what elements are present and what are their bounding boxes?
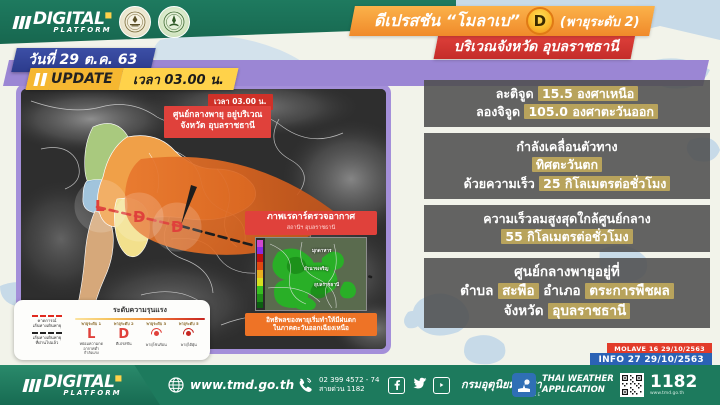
facebook-icon[interactable] [388, 377, 405, 394]
center-district-value: ตระการพืชผล [585, 283, 674, 299]
brand-group: DIGITAL■ PLATFORM [14, 6, 190, 38]
longitude-line: ลองจิจูด 105.0 องศาตะวันออก [432, 103, 702, 121]
coordinates-box: ละติจูด 15.5 องศาเหนือ ลองจิจูด 105.0 อง… [424, 80, 710, 127]
black-dash-icon [19, 332, 75, 334]
legend-level-2: พายุระดับ 2 D ดีเปรสชัน [108, 321, 141, 356]
radar-title-bar: ภาพเรดาร์ตรวจอากาศ สถานีฯ อุบลราชธานี [245, 211, 377, 235]
radar-subtitle: สถานีฯ อุบลราชธานี [249, 224, 373, 232]
update-banner: UPDATE เวลา 03.00 น. [25, 68, 238, 90]
callout-line-2: จังหวัด อุบลราชธานี [173, 121, 262, 132]
legend-level-5: พายุระดับ 5 พายุไต้ฝุ่น [173, 321, 206, 356]
update-time-label: เวลา 03.00 น. [133, 69, 224, 90]
movement-box: กำลังเคลื่อนตัวทาง ทิศตะวันตก ด้วยความเร… [424, 133, 710, 198]
typhoon-spiral-icon [183, 328, 194, 339]
center-province-line: จังหวัด อุบลราชธานี [432, 302, 702, 322]
footer-phone-line-2: สายด่วน 1182 [319, 385, 379, 394]
footer-website-label: www.tmd.go.th [190, 378, 294, 392]
storm-area-text: บริเวณจังหวัด อุบลราชธานี [454, 36, 619, 58]
latitude-value: 15.5 องศาเหนือ [538, 86, 638, 101]
legend-past-track: เส้นทางเดินพายุที่ผ่านไปแล้ว [19, 332, 75, 346]
legend-level-3-symbol [140, 328, 173, 342]
movement-direction-value: ทิศตะวันตก [532, 157, 602, 172]
legend-forecast-caption: คาดการณ์เส้นทางเดินพายุ [19, 318, 75, 329]
legend-level-3-label: พายุระดับ 3 [140, 321, 173, 327]
digital-platform-logo: DIGITAL■ PLATFORM [14, 11, 112, 34]
legend-level-3: พายุระดับ 3 พายุโซนร้อน [140, 321, 173, 356]
movement-direction-line: ทิศตะวันตก [432, 156, 702, 174]
windspeed-box: ความเร็วลมสูงสุดใกล้ศูนย์กลาง 55 กิโลเมต… [424, 205, 710, 252]
legend-past-caption: เส้นทางเดินพายุที่ผ่านไปแล้ว [19, 335, 75, 346]
center-location-label: ศูนย์กลางพายุอยู่ที่ [432, 263, 702, 283]
footer-hotline[interactable]: 1182 www.tmd.go.th [620, 373, 697, 397]
legend-level-1-symbol: L [75, 328, 108, 341]
red-dash-icon [19, 315, 75, 317]
center-location-box: ศูนย์กลางพายุอยู่ที่ ตำบล สะพือ อำเภอ ตร… [424, 258, 710, 328]
windspeed-label: ความเร็วลมสูงสุดใกล้ศูนย์กลาง [432, 210, 702, 228]
thai-weather-app-icon [512, 373, 536, 397]
map-marker-d2: D [171, 218, 183, 236]
storm-area-banner: บริเวณจังหวัด อุบลราชธานี [434, 34, 636, 59]
footer-website[interactable]: www.tmd.go.th [168, 377, 294, 393]
footer-logo: DIGITAL■ PLATFORM [0, 365, 160, 405]
radar-caption-line-2: ในภาคตะวันออกเฉียงเหนือ [249, 324, 373, 332]
footer-app[interactable]: THAI WEATHER APPLICATION [512, 373, 614, 397]
map-marker-d1: D [133, 208, 145, 226]
legend-forecast-track: คาดการณ์เส้นทางเดินพายุ [19, 315, 75, 329]
legend-level-3-name: พายุโซนร้อน [140, 343, 173, 348]
storm-title-main: ดีเปรสชัน “โมลาเบ” [374, 9, 520, 34]
movement-speed-line: ด้วยความเร็ว 25 กิโลเมตรต่อชั่วโมง [432, 175, 702, 193]
radar-caption: อิทธิพลของพายุเริ่มทำให้มีฝนตก ในภาคตะวั… [245, 313, 377, 336]
legend-level-2-symbol: D [108, 328, 141, 341]
windspeed-value-line: 55 กิโลเมตรต่อชั่วโมง [432, 228, 702, 246]
legend-title: ระดับความรุนแรง [113, 305, 167, 316]
update-label: UPDATE [51, 71, 113, 87]
center-subdistrict-value: สะพือ [498, 283, 539, 299]
radar-label-mukdahan: มุกดาหาร [312, 248, 331, 255]
radar-label-ubonratchathani: อุบลราชธานี [314, 282, 339, 289]
legend-level-5-label: พายุระดับ 5 [173, 321, 206, 327]
footer-phone-line-1: 02 399 4572 - 74 [319, 376, 379, 385]
storm-center-callout: ศูนย์กลางพายุ อยู่บริเวณ จังหวัด อุบลราช… [164, 106, 271, 138]
globe-icon [168, 377, 184, 393]
royal-thai-government-seal-icon [119, 6, 151, 38]
radar-image[interactable]: มุกดาหาร อำนาจเจริญ อุบลราชธานี [255, 237, 367, 311]
severity-scale-bar [75, 318, 205, 320]
youtube-icon[interactable] [433, 377, 450, 394]
center-subdistrict-line: ตำบล สะพือ อำเภอ ตระการพืชผล [432, 282, 702, 302]
phone-icon [296, 377, 313, 394]
radar-inset[interactable]: ภาพเรดาร์ตรวจอากาศ สถานีฯ อุบลราชธานี [245, 211, 377, 339]
callout-line-1: ศูนย์กลางพายุ อยู่บริเวณ [173, 110, 262, 121]
longitude-value: 105.0 องศาตะวันออก [524, 104, 657, 119]
legend-level-5-name: พายุไต้ฝุ่น [173, 343, 206, 348]
storm-info-panel: ละติจูด 15.5 องศาเหนือ ลองจิจูด 105.0 อง… [424, 80, 710, 334]
storm-level-badge: D [526, 7, 554, 35]
legend-level-1-name: หย่อมความกดอากาศต่ำกำลังแรง [75, 342, 108, 356]
movement-speed-value: 25 กิโลเมตรต่อชั่วโมง [539, 176, 670, 191]
footer-phone[interactable]: 02 399 4572 - 74 สายด่วน 1182 [296, 376, 379, 395]
map-marker-l: L [95, 197, 105, 215]
footer-bar: DIGITAL■ PLATFORM www.tmd.go.th 02 399 4… [0, 365, 720, 405]
tropical-storm-spiral-icon [151, 328, 162, 339]
radar-label-amnatcharoen: อำนาจเจริญ [304, 266, 328, 273]
center-province-value: อุบลราชธานี [548, 303, 630, 319]
footer-hotline-number: 1182 [650, 374, 697, 391]
radar-title: ภาพเรดาร์ตรวจอากาศ [249, 213, 373, 223]
map-legend: คาดการณ์เส้นทางเดินพายุ เส้นทางเดินพายุท… [14, 300, 210, 360]
legend-level-2-name: ดีเปรสชัน [108, 342, 141, 347]
footer-logo-bars-icon [22, 379, 41, 392]
movement-label: กำลังเคลื่อนตัวทาง [432, 138, 702, 156]
storm-title-banner: ดีเปรสชัน “โมลาเบ” D (พายุระดับ 2) [349, 6, 654, 36]
footer-app-line-2: APPLICATION [542, 385, 614, 396]
logo-bars-icon [12, 16, 31, 29]
footer-app-line-1: THAI WEATHER [542, 374, 614, 385]
storm-level-text: (พายุระดับ 2) [560, 11, 640, 32]
twitter-icon[interactable] [411, 376, 427, 395]
legend-level-1: พายุระดับ 1 L หย่อมความกดอากาศต่ำกำลังแร… [75, 321, 108, 356]
latitude-line: ละติจูด 15.5 องศาเหนือ [432, 85, 702, 103]
windspeed-value: 55 กิโลเมตรต่อชั่วโมง [501, 229, 632, 244]
qr-code-icon [620, 373, 644, 397]
thai-meteorological-department-seal-icon [158, 6, 190, 38]
legend-level-5-symbol [173, 328, 206, 342]
